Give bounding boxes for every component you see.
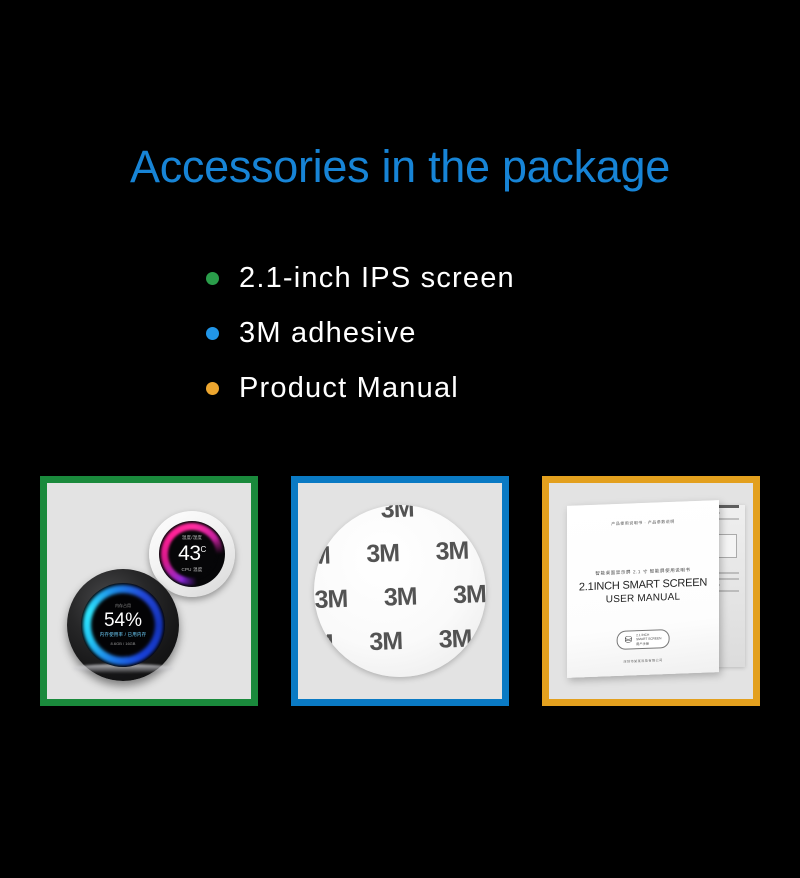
3m-logo-icon: 3M xyxy=(314,584,348,614)
3m-logo-icon: 3M xyxy=(450,505,484,522)
screen-device-icon: ⛁ xyxy=(625,635,633,644)
readout-value: 54% xyxy=(100,611,147,630)
feature-label: Product Manual xyxy=(239,372,459,405)
bullet-dot-icon xyxy=(206,327,219,340)
product-image-row: 温度/湿度 43C CPU 温度 内存占用 54% 内存使用率 / 已用内存 8… xyxy=(40,476,760,706)
manual-badge: ⛁ 2.1 INCH SMART SCREEN 用户手册 xyxy=(617,629,670,650)
accessories-feature-list: 2.1-inch IPS screen 3M adhesive Product … xyxy=(206,251,666,416)
list-item: 2.1-inch IPS screen xyxy=(206,251,666,306)
readout-number: 43 xyxy=(178,542,200,565)
panel-image-3m-adhesive: 3M 3M 3M 3M 3M 3M 3M 3M 3M 3M 3M 3M xyxy=(298,483,502,699)
adhesive-disc: 3M 3M 3M 3M 3M 3M 3M 3M 3M 3M 3M 3M xyxy=(314,505,486,677)
feature-label: 3M adhesive xyxy=(239,317,417,350)
bullet-dot-icon xyxy=(206,272,219,285)
3m-logo-icon: 3M xyxy=(314,541,330,571)
manual-footer-text: 深圳市某某科技有限公司 xyxy=(567,655,719,666)
product-panel-user-manual: 产品使用说明书 · 产品参数说明 智能桌面显示屏 2.1 寸 智能屏使用说明书 … xyxy=(542,476,760,706)
list-item: 3M adhesive xyxy=(206,306,666,361)
display-readout-usage: 内存占用 54% 内存使用率 / 已用内存 8.6GB / 16GB xyxy=(100,604,147,646)
3m-logo-icon: 3M xyxy=(366,539,400,569)
3m-logo-icon: 3M xyxy=(314,505,345,527)
readout-value: 43C xyxy=(178,543,206,564)
badge-line-3: 用户手册 xyxy=(636,641,649,645)
manual-badge-text: 2.1 INCH SMART SCREEN 用户手册 xyxy=(636,632,661,646)
3m-logo-icon: 3M xyxy=(435,536,469,566)
readout-detail-label: 8.6GB / 16GB xyxy=(100,642,147,646)
product-panel-3m-adhesive: 3M 3M 3M 3M 3M 3M 3M 3M 3M 3M 3M 3M xyxy=(291,476,509,706)
list-item: Product Manual xyxy=(206,361,666,416)
readout-top-label: 温度/湿度 xyxy=(178,536,206,541)
readout-bottom-label: CPU 温度 xyxy=(178,568,206,573)
panel-image-user-manual: 产品使用说明书 · 产品参数说明 智能桌面显示屏 2.1 寸 智能屏使用说明书 … xyxy=(549,483,753,699)
readout-sub-label: 内存使用率 / 已用内存 xyxy=(100,633,147,638)
smart-screen-black-device: 内存占用 54% 内存使用率 / 已用内存 8.6GB / 16GB xyxy=(67,569,179,681)
3m-logo-icon: 3M xyxy=(369,626,403,656)
device-display-white: 温度/湿度 43C CPU 温度 xyxy=(159,521,225,587)
3m-logo-icon: 3M xyxy=(453,580,486,610)
display-readout-temperature: 温度/湿度 43C CPU 温度 xyxy=(178,536,206,573)
readout-unit: C xyxy=(201,545,206,554)
bullet-dot-icon xyxy=(206,382,219,395)
page-title: Accessories in the package xyxy=(0,142,800,192)
product-panel-ips-screen: 温度/湿度 43C CPU 温度 内存占用 54% 内存使用率 / 已用内存 8… xyxy=(40,476,258,706)
3m-logo-icon: 3M xyxy=(383,582,417,612)
feature-label: 2.1-inch IPS screen xyxy=(239,262,515,295)
3m-logo-pattern: 3M 3M 3M 3M 3M 3M 3M 3M 3M 3M 3M 3M xyxy=(314,505,486,677)
manual-cover: 产品使用说明书 · 产品参数说明 智能桌面显示屏 2.1 寸 智能屏使用说明书 … xyxy=(567,500,719,678)
device-display-black: 内存占用 54% 内存使用率 / 已用内存 8.6GB / 16GB xyxy=(81,583,165,667)
3m-logo-icon: 3M xyxy=(438,624,472,654)
3m-logo-icon: 3M xyxy=(380,505,414,524)
manual-title-block: 智能桌面显示屏 2.1 寸 智能屏使用说明书 2.1INCH SMART SCR… xyxy=(567,566,719,607)
readout-top-label: 内存占用 xyxy=(100,604,147,608)
manual-header-text: 产品使用说明书 · 产品参数说明 xyxy=(567,517,719,529)
panel-image-ips-screen: 温度/湿度 43C CPU 温度 内存占用 54% 内存使用率 / 已用内存 8… xyxy=(47,483,251,699)
3m-logo-icon: 3M xyxy=(314,629,333,659)
